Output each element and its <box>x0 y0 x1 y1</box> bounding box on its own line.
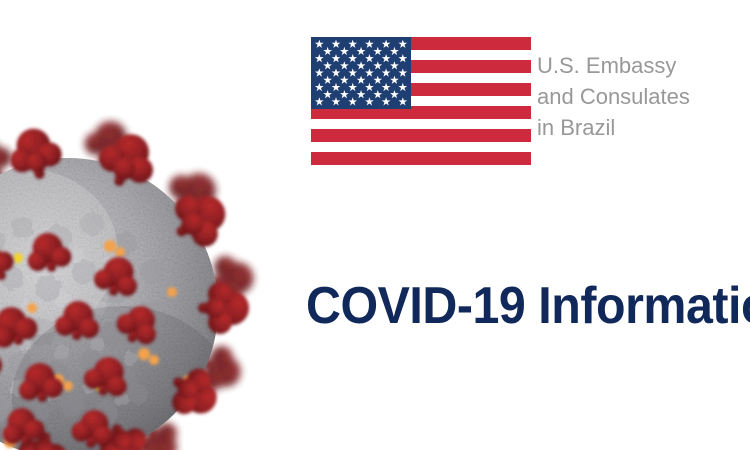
covid-information-banner: U.S. Embassy and Consulates in Brazil CO… <box>0 0 750 450</box>
page-title: COVID-19 Information <box>306 280 750 332</box>
sars-cov-2-virus-illustration <box>0 112 268 450</box>
agency-name-line-1: U.S. Embassy <box>537 50 737 81</box>
agency-name-line-2: and Consulates <box>537 81 737 112</box>
agency-name-line-3: in Brazil <box>537 112 737 143</box>
agency-name: U.S. Embassy and Consulates in Brazil <box>537 50 737 143</box>
united-states-flag-icon <box>311 37 531 165</box>
embassy-logo: U.S. Embassy and Consulates in Brazil <box>311 37 721 165</box>
